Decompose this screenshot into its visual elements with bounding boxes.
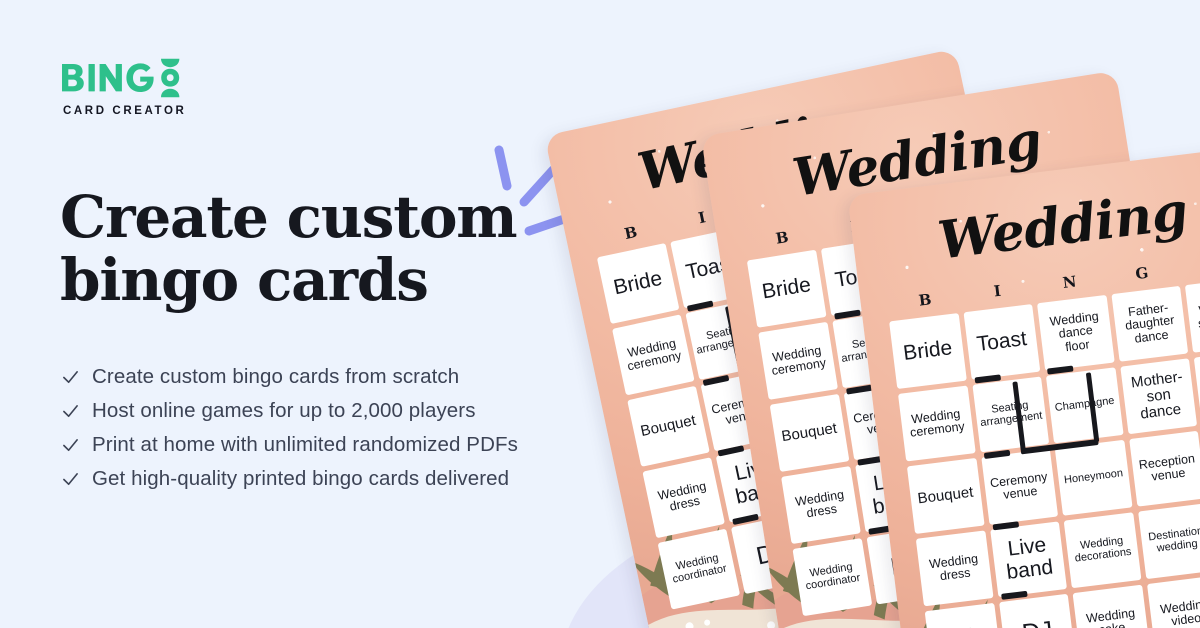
card-cell[interactable]: Wedding coordinator: [925, 603, 1002, 628]
bingo-wordmark-icon: [60, 58, 182, 102]
card-cell[interactable]: Mother-son dance: [1120, 358, 1197, 434]
card-cell[interactable]: Bouquet: [770, 394, 849, 472]
card-cell-label: DJ: [1021, 617, 1055, 628]
list-item: Print at home with unlimited randomized …: [62, 428, 622, 462]
card-cell-label: Wedding dress: [651, 478, 717, 517]
list-item: Create custom bingo cards from scratch: [62, 360, 622, 394]
card-cell[interactable]: Seating arrangement: [972, 376, 1049, 452]
card-cell-label: Live band: [995, 533, 1062, 586]
card-cell[interactable]: Champagne: [1046, 367, 1123, 443]
card-cell-label: Wedding video: [1153, 596, 1200, 628]
card-cell-label: Destination wedding: [1145, 526, 1200, 557]
card-cell-label: Wedding coordinator: [666, 551, 731, 587]
card-cell[interactable]: Reception venue: [1129, 431, 1200, 507]
card-cell[interactable]: Wedding cake: [1073, 585, 1150, 628]
card-cell[interactable]: Bride: [747, 250, 826, 328]
card-cell[interactable]: Wedding decorations: [1064, 512, 1141, 588]
card-cell[interactable]: Wedding coordinator: [792, 538, 871, 616]
card-cell-label: Wedding ceremony: [765, 343, 830, 379]
card-cell-label: Ceremony venue: [987, 470, 1051, 504]
card-cell[interactable]: Wedding coordinator: [658, 529, 740, 610]
card-cell-label: Bouquet: [780, 421, 838, 446]
list-item-label: Create custom bingo cards from scratch: [92, 365, 459, 389]
brand-logo[interactable]: CARD CREATOR: [60, 58, 290, 124]
card-cell[interactable]: Father-daughter dance: [1111, 286, 1188, 362]
list-item-label: Host online games for up to 2,000 player…: [92, 399, 476, 423]
card-cell-label: Wedding dress: [922, 551, 986, 585]
card-cell-label: Wedding coordinator: [800, 561, 865, 594]
card-cell[interactable]: Toast: [963, 304, 1040, 380]
card-cell-label: Wedding ceremony: [620, 335, 686, 374]
card-cell[interactable]: Bride: [889, 313, 966, 389]
card-cell[interactable]: Live band: [990, 521, 1067, 597]
card-cell-label: Toast: [976, 328, 1029, 357]
headline-line-2: bingo cards: [60, 249, 600, 312]
card-cell[interactable]: Destination wedding: [1138, 503, 1200, 579]
card-cell[interactable]: Bouquet: [907, 458, 984, 534]
page-title: Create custom bingo cards: [60, 186, 600, 311]
card-cell[interactable]: Ceremony venue: [981, 449, 1058, 525]
card-cell[interactable]: Wedding ceremony: [758, 322, 837, 400]
card-cell[interactable]: Wedding dress: [916, 530, 993, 606]
card-cell-label: Seating arrangement: [978, 399, 1043, 430]
card-cell-label: Wedding decorations: [1071, 535, 1135, 566]
card-cell-label: Bride: [902, 337, 953, 365]
card-cell-label: Father-daughter dance: [1117, 300, 1183, 348]
list-item-label: Get high-quality printed bingo cards del…: [92, 467, 509, 491]
card-cell-label: Wedding dress: [788, 487, 853, 523]
card-cell[interactable]: Wedding dress: [642, 457, 724, 538]
card-cell-label: Wedding speeches: [1192, 298, 1200, 332]
card-cell-label: Bouquet: [917, 485, 974, 508]
brand-tagline: CARD CREATOR: [63, 105, 290, 117]
card-cell[interactable]: Wedding ceremony: [898, 386, 975, 462]
card-cell[interactable]: DJ: [999, 594, 1076, 628]
card-cell-label: Wedding dance floor: [1043, 309, 1109, 357]
card-cell-label: Champagne: [1054, 396, 1115, 415]
card-cell-label: Wedding cake: [1079, 606, 1143, 628]
card-cell-label: Bride: [612, 267, 665, 299]
headline-line-1: Create custom: [60, 186, 600, 249]
card-cell-label: Bouquet: [639, 413, 697, 440]
card-cell-label: Mother-son dance: [1125, 368, 1192, 424]
list-item-label: Print at home with unlimited randomized …: [92, 433, 518, 457]
check-icon: [62, 437, 79, 454]
card-cell[interactable]: Wedding dress: [781, 466, 860, 544]
card-cell[interactable]: Bride: [597, 243, 679, 324]
list-item: Get high-quality printed bingo cards del…: [62, 462, 622, 496]
card-grid: BrideToastWedding dance floorFather-daug…: [889, 277, 1200, 628]
card-cell[interactable]: Bouquet: [627, 386, 709, 467]
card-cell[interactable]: Honeymoon: [1055, 440, 1132, 516]
card-cell[interactable]: Wedding video: [1147, 576, 1200, 628]
card-cell-label: Wedding ceremony: [904, 406, 968, 440]
card-cell[interactable]: Wedding speeches: [1185, 277, 1200, 353]
check-icon: [62, 471, 79, 488]
card-cell-label: Reception venue: [1135, 452, 1199, 486]
check-icon: [62, 369, 79, 386]
promo-banner: CARD CREATOR Create custom bingo cards C…: [0, 0, 1200, 628]
wedding-bingo-card-front[interactable]: WeddingBINGOBrideToastWedding dance floo…: [847, 144, 1200, 628]
card-cell-label: Bride: [760, 274, 812, 304]
feature-list: Create custom bingo cards from scratch H…: [62, 360, 622, 496]
card-cell[interactable]: Wedding ceremony: [612, 314, 694, 395]
card-cell[interactable]: Wedding dance floor: [1037, 295, 1114, 371]
check-icon: [62, 403, 79, 420]
card-cell-label: Honeymoon: [1063, 468, 1123, 487]
list-item: Host online games for up to 2,000 player…: [62, 394, 622, 428]
